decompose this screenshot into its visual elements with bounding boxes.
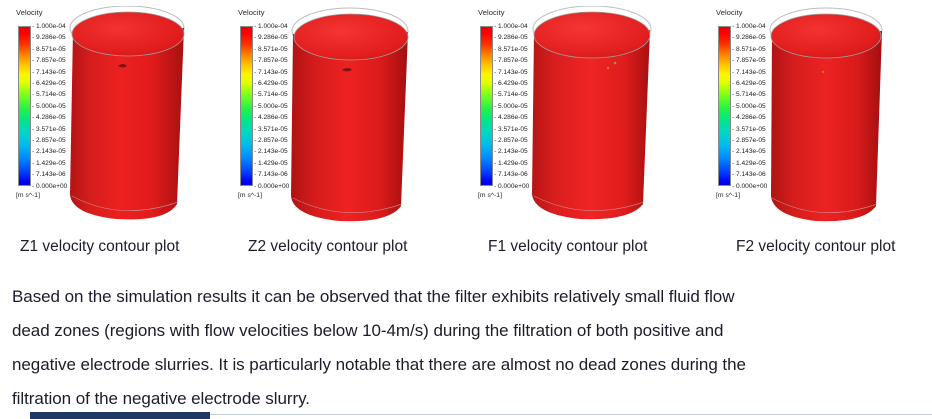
contour-panel-z1: Velocity -1.000e-04 -9.286e-05 -8.571e-0… xyxy=(0,0,233,235)
cylinder-render-f2 xyxy=(760,6,925,228)
contour-panel-f1: Velocity -1.000e-04 -9.286e-05 -8.571e-0… xyxy=(462,0,695,235)
figure-captions-row: Z1 velocity contour plot Z2 velocity con… xyxy=(0,238,932,272)
legend-title: Velocity xyxy=(238,8,265,17)
legend-colorbar xyxy=(718,26,731,186)
velocity-contour-figure-strip: Velocity -1.000e-04 -9.286e-05 -8.571e-0… xyxy=(0,0,932,235)
bottom-divider-rule xyxy=(210,414,932,415)
legend-colorbar xyxy=(480,26,493,186)
legend-title: Velocity xyxy=(478,8,505,17)
legend-title: Velocity xyxy=(716,8,743,17)
contour-panel-z2: Velocity -1.000e-04 -9.286e-05 -8.571e-0… xyxy=(222,0,455,235)
cylinder-render-z1 xyxy=(60,6,225,228)
legend-units-label: [m s^-1] xyxy=(478,192,502,199)
caption-z1: Z1 velocity contour plot xyxy=(20,238,179,256)
legend-colorbar xyxy=(18,26,31,186)
body-paragraph: Based on the simulation results it can b… xyxy=(12,280,924,416)
contour-panel-f2: Velocity -1.000e-04 -9.286e-05 -8.571e-0… xyxy=(700,0,932,235)
body-line: dead zones (regions with flow velocities… xyxy=(12,314,924,348)
bottom-accent-bar xyxy=(30,412,210,419)
cylinder-render-z2 xyxy=(282,6,447,228)
legend-colorbar xyxy=(240,26,253,186)
body-line: Based on the simulation results it can b… xyxy=(12,280,924,314)
caption-z2: Z2 velocity contour plot xyxy=(248,238,407,256)
legend-units-label: [m s^-1] xyxy=(238,192,262,199)
cylinder-render-f1 xyxy=(522,6,687,228)
caption-f2: F2 velocity contour plot xyxy=(736,238,895,256)
legend-units-label: [m s^-1] xyxy=(716,192,740,199)
caption-f1: F1 velocity contour plot xyxy=(488,238,647,256)
body-line: filtration of the negative electrode slu… xyxy=(12,382,924,416)
body-line: negative electrode slurries. It is parti… xyxy=(12,348,924,382)
legend-units-label: [m s^-1] xyxy=(16,192,40,199)
legend-title: Velocity xyxy=(16,8,43,17)
